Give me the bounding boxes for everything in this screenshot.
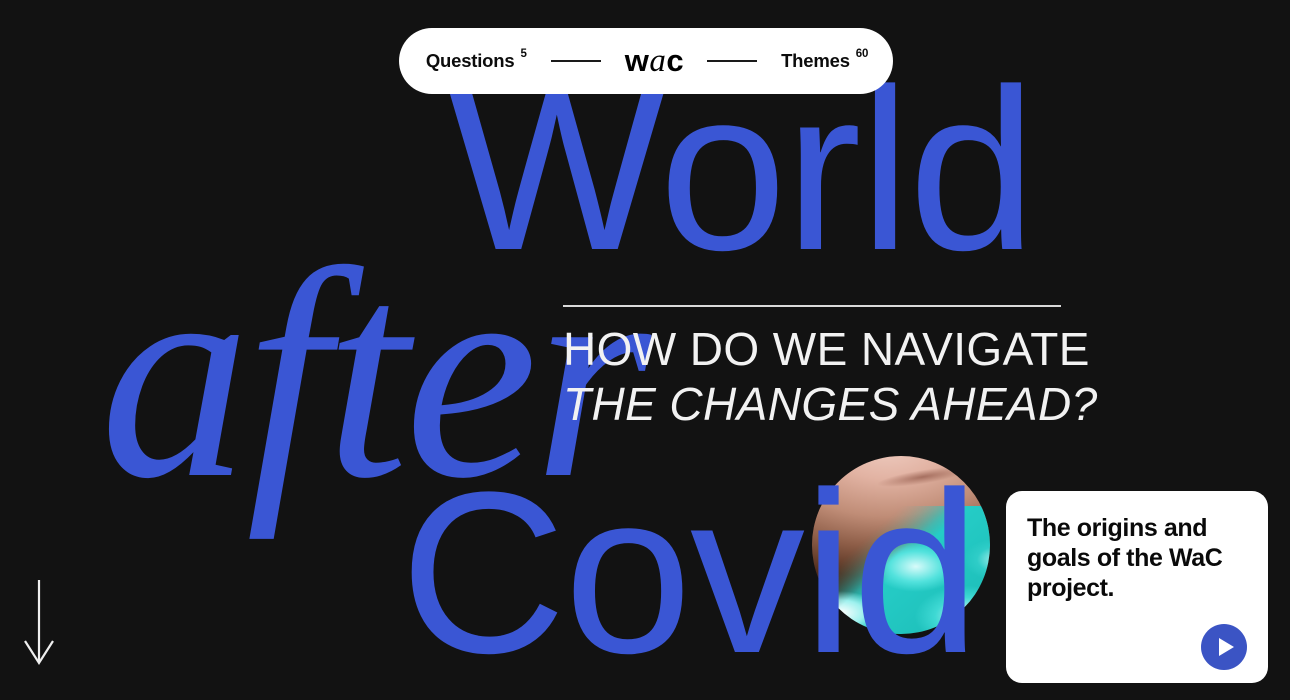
subheading-line-1: HOW DO WE NAVIGATE (563, 322, 1063, 377)
nav-themes-count: 60 (856, 49, 868, 60)
subheading-block: HOW DO WE NAVIGATE THE CHANGES AHEAD? (563, 305, 1063, 432)
logo-letter-w: w (625, 45, 649, 76)
video-card[interactable]: The origins and goals of the WaC project… (1006, 491, 1268, 683)
scroll-down-indicator[interactable] (22, 578, 56, 666)
nav-questions-count: 5 (520, 49, 526, 60)
subheading-rule (563, 305, 1061, 307)
play-button[interactable] (1201, 624, 1247, 670)
logo-letter-c: c (666, 45, 683, 76)
nav-questions-label: Questions (426, 50, 515, 72)
arrow-down-icon (22, 578, 56, 666)
nav-item-themes[interactable]: Themes 60 (781, 50, 868, 72)
page-root: World after Covid Questions 5 wac Themes… (0, 0, 1290, 700)
top-nav-pill: Questions 5 wac Themes 60 (399, 28, 893, 94)
nav-item-questions[interactable]: Questions 5 (426, 50, 527, 72)
nav-divider-right (707, 60, 757, 62)
video-card-title: The origins and goals of the WaC project… (1027, 513, 1246, 603)
nav-themes-label: Themes (781, 50, 850, 72)
logo-letter-a: a (648, 46, 666, 77)
subheading-line-2: THE CHANGES AHEAD? (563, 377, 1063, 432)
hero-word-covid: Covid (400, 458, 978, 688)
wac-logo[interactable]: wac (625, 45, 683, 77)
nav-divider-left (551, 60, 601, 62)
play-icon (1219, 638, 1234, 656)
